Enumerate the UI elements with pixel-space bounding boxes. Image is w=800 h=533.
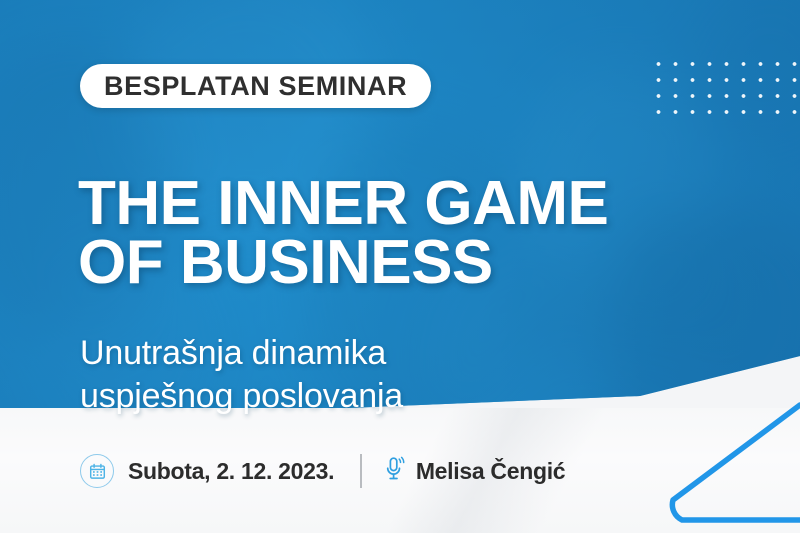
title-line-2: OF BUSINESS	[78, 233, 768, 293]
seminar-promo-banner: BESPLATAN SEMINAR THE INNER GAME OF BUSI…	[0, 0, 800, 533]
event-info-row: Subota, 2. 12. 2023. Melisa Čengić	[80, 450, 565, 492]
speaker-name: Melisa Čengić	[416, 458, 566, 485]
dot-grid-icon	[648, 54, 800, 116]
free-seminar-badge: BESPLATAN SEMINAR	[80, 64, 431, 108]
subtitle-line-2: uspješnog poslovanja	[80, 375, 640, 418]
page-title: THE INNER GAME OF BUSINESS	[78, 174, 768, 293]
subtitle-line-1: Unutrašnja dinamika	[80, 334, 386, 372]
event-date: Subota, 2. 12. 2023.	[128, 458, 334, 485]
page-subtitle: Unutrašnja dinamika uspješnog poslovanja	[80, 332, 640, 418]
badge-label: BESPLATAN SEMINAR	[104, 73, 407, 100]
footer-divider	[360, 454, 362, 488]
calendar-icon	[80, 454, 114, 488]
microphone-icon	[384, 456, 406, 487]
speaker-group: Melisa Čengić	[384, 456, 566, 487]
